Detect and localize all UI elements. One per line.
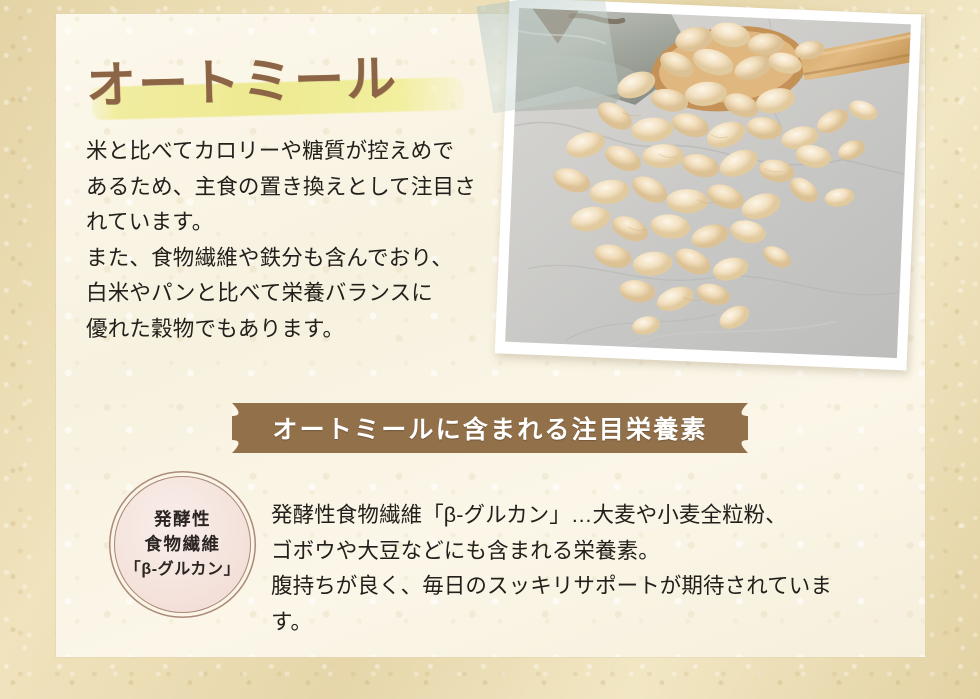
lead-line: 優れた穀物でもあります。: [86, 312, 480, 348]
badge-line-3: 「β-グルカン」: [125, 557, 240, 582]
infographic-page: オートミール 米と比べてカロリーや糖質が控えめで あるため、主食の置き換えとして…: [0, 0, 980, 699]
lead-line: 米と比べてカロリーや糖質が控えめで: [86, 134, 480, 170]
banner-label: オートミールに含まれる注目栄養素: [232, 403, 748, 453]
nutrient-line: 腹持ちが良く、毎日のスッキリサポートが期待されています。: [271, 569, 871, 640]
lead-paragraph: 米と比べてカロリーや糖質が控えめで あるため、主食の置き換えとして注目さ れてい…: [86, 134, 480, 347]
lead-line: あるため、主食の置き換えとして注目さ: [86, 170, 480, 206]
badge-line-1: 発酵性: [154, 507, 211, 532]
lead-line: また、食物繊維や鉄分も含んでおり、: [86, 241, 480, 277]
section-banner: オートミールに含まれる注目栄養素: [232, 403, 748, 453]
lead-line: れています。: [86, 205, 480, 241]
nutrient-line: 発酵性食物繊維「β-グルカン」…大麦や小麦全粒粉、: [271, 498, 871, 534]
headline-group: オートミール: [86, 52, 486, 122]
nutrient-line: ゴボウや大豆などにも含まれる栄養素。: [271, 534, 871, 570]
lead-line: 白米やパンと比べて栄養バランスに: [86, 276, 480, 312]
nutrient-badge: 発酵性 食物繊維 「β-グルカン」: [114, 476, 251, 613]
washi-tape: [476, 0, 619, 113]
nutrient-description: 発酵性食物繊維「β-グルカン」…大麦や小麦全粒粉、 ゴボウや大豆などにも含まれる…: [271, 498, 871, 640]
badge-line-2: 食物繊維: [145, 532, 221, 557]
page-title: オートミール: [85, 44, 399, 120]
